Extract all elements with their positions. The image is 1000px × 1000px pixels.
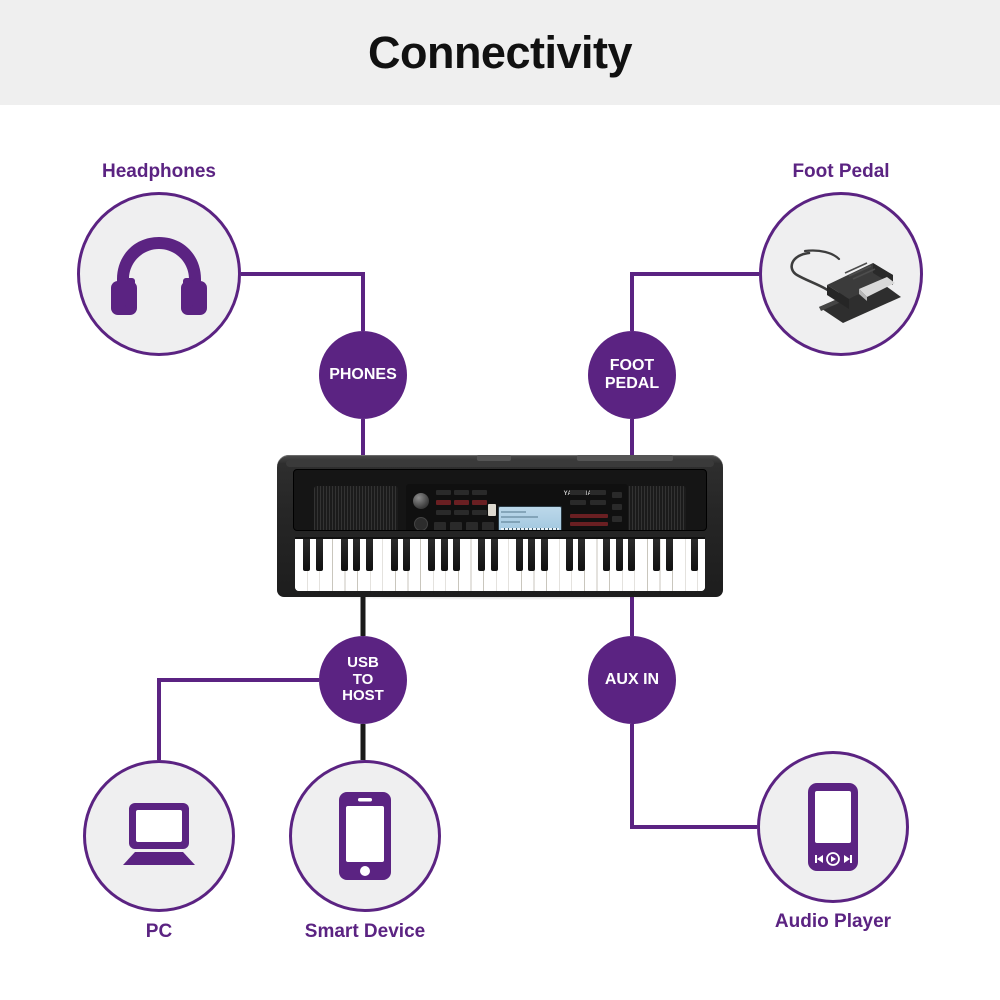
master-volume-knob xyxy=(412,492,430,510)
device-headphones[interactable] xyxy=(77,192,241,356)
foot-pedal-label: Foot Pedal xyxy=(691,162,991,181)
lcd-keyboard-strip xyxy=(501,528,559,531)
wire-footpedal-to-port xyxy=(632,274,759,331)
panel-controls: YAMAHA xyxy=(406,484,628,531)
device-audio-player[interactable] xyxy=(757,751,909,903)
device-pc[interactable] xyxy=(83,760,235,912)
wire-auxin-to-audioplayer xyxy=(632,724,757,827)
audio-player-icon xyxy=(806,781,860,873)
port-foot-pedal-label: FOOT PEDAL xyxy=(605,357,659,393)
audio-player-label: Audio Player xyxy=(683,912,983,931)
lcd-display xyxy=(498,506,562,531)
sustain-pedal-icon xyxy=(775,219,907,329)
smart-device-label: Smart Device xyxy=(215,922,515,941)
wire-usb-to-pc xyxy=(159,680,319,760)
smartphone-icon xyxy=(337,790,393,882)
keyboard-top-strip xyxy=(286,460,714,467)
keyboard-control-panel: YAMAHA xyxy=(293,469,707,531)
device-smart-device[interactable] xyxy=(289,760,441,912)
device-foot-pedal[interactable] xyxy=(759,192,923,356)
port-usb-to-host-label: USB TO HOST xyxy=(342,655,384,705)
keyboard-tab-left xyxy=(477,455,511,461)
port-aux-in[interactable]: AUX IN xyxy=(588,636,676,724)
port-phones[interactable]: PHONES xyxy=(319,331,407,419)
port-foot-pedal[interactable]: FOOT PEDAL xyxy=(588,331,676,419)
headphones-label: Headphones xyxy=(9,162,309,181)
wire-headphones-to-phones xyxy=(241,274,363,331)
port-aux-in-label: AUX IN xyxy=(605,671,659,689)
port-phones-label: PHONES xyxy=(329,366,397,384)
speaker-grille-left xyxy=(314,486,398,531)
port-usb-to-host[interactable]: USB TO HOST xyxy=(319,636,407,724)
keyboard-tab-right xyxy=(577,455,673,461)
connectivity-diagram: Connectivity Headphones Foot Pe xyxy=(0,0,1000,1000)
secondary-knob xyxy=(414,517,428,531)
keyboard-keys xyxy=(295,537,705,591)
yamaha-keyboard: YAMAHA xyxy=(277,455,723,597)
headphones-icon xyxy=(107,231,211,317)
laptop-icon xyxy=(113,799,205,873)
